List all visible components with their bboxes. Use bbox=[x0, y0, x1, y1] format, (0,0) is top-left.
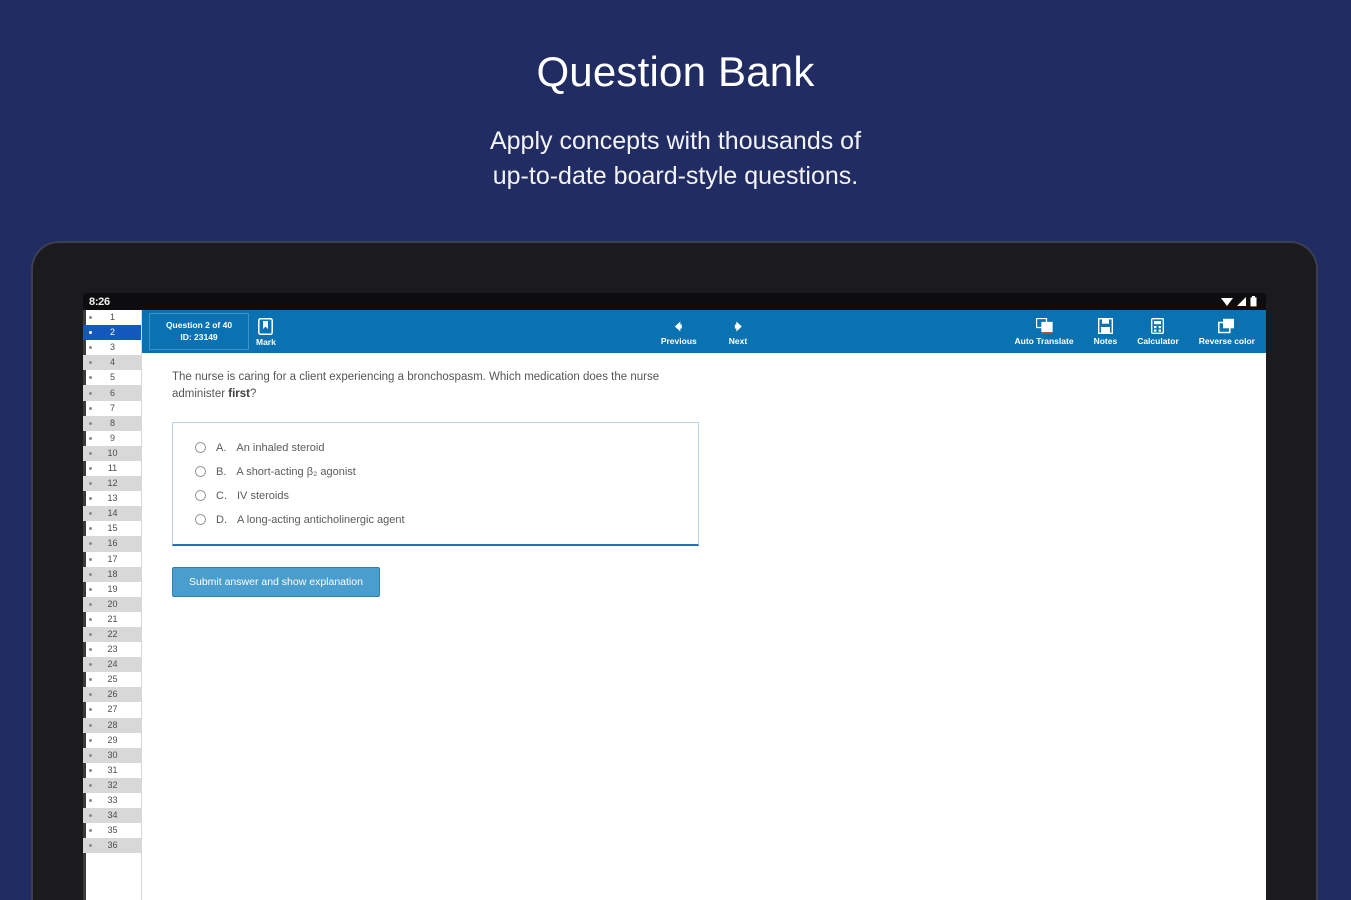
question-number-label: 14 bbox=[92, 509, 141, 518]
question-number-label: 2 bbox=[92, 328, 141, 337]
question-counter-label: Question 2 of 40 bbox=[166, 320, 232, 331]
notes-label: Notes bbox=[1094, 336, 1118, 346]
auto-translate-icon bbox=[1036, 318, 1053, 334]
question-list-item[interactable]: 33 bbox=[83, 793, 141, 808]
question-list-item[interactable]: 25 bbox=[83, 672, 141, 687]
question-number-label: 35 bbox=[92, 826, 141, 835]
toolbar-tools: Auto Translate Notes bbox=[1008, 310, 1266, 353]
question-list-item[interactable]: 15 bbox=[83, 521, 141, 536]
question-list-sidebar[interactable]: 1234567891011121314151617181920212223242… bbox=[83, 310, 142, 900]
signal-icon bbox=[1236, 296, 1247, 307]
answer-option[interactable]: D.A long-acting anticholinergic agent bbox=[173, 508, 698, 532]
question-list-item[interactable]: 3 bbox=[83, 340, 141, 355]
question-list-item[interactable]: 14 bbox=[83, 506, 141, 521]
answer-option[interactable]: B.A short-acting β₂ agonist bbox=[173, 460, 698, 484]
question-number-label: 17 bbox=[92, 555, 141, 564]
question-list[interactable]: 1234567891011121314151617181920212223242… bbox=[83, 310, 141, 853]
question-number-label: 13 bbox=[92, 494, 141, 503]
question-list-item[interactable]: 26 bbox=[83, 687, 141, 702]
question-list-item[interactable]: 32 bbox=[83, 778, 141, 793]
auto-translate-button[interactable]: Auto Translate bbox=[1008, 310, 1081, 353]
question-number-label: 10 bbox=[92, 449, 141, 458]
question-number-label: 6 bbox=[92, 389, 141, 398]
question-list-item[interactable]: 7 bbox=[83, 401, 141, 416]
question-stem: The nurse is caring for a client experie… bbox=[172, 369, 672, 404]
question-list-item[interactable]: 17 bbox=[83, 552, 141, 567]
question-number-label: 9 bbox=[92, 434, 141, 443]
battery-icon bbox=[1250, 296, 1257, 307]
tablet-device-frame: 8:26 12345678910111213141516171819202122… bbox=[33, 243, 1316, 900]
question-list-item[interactable]: 20 bbox=[83, 597, 141, 612]
calculator-icon bbox=[1151, 318, 1164, 334]
question-list-item[interactable]: 16 bbox=[83, 536, 141, 551]
submit-answer-button[interactable]: Submit answer and show explanation bbox=[172, 567, 380, 597]
answer-option-text: An inhaled steroid bbox=[236, 442, 324, 454]
previous-label: Previous bbox=[661, 336, 697, 346]
question-number-label: 20 bbox=[92, 600, 141, 609]
question-number-label: 3 bbox=[92, 343, 141, 352]
arrow-left-icon bbox=[671, 319, 686, 334]
question-number-label: 16 bbox=[92, 539, 141, 548]
question-number-label: 7 bbox=[92, 404, 141, 413]
reverse-color-label: Reverse color bbox=[1199, 336, 1255, 346]
question-number-label: 18 bbox=[92, 570, 141, 579]
answer-option-letter: A. bbox=[216, 442, 226, 454]
question-toolbar: Question 2 of 40 ID: 23149 Mark bbox=[142, 310, 1266, 353]
radio-button-icon[interactable] bbox=[195, 466, 206, 477]
answer-option-text: A long-acting anticholinergic agent bbox=[237, 514, 405, 526]
question-list-item[interactable]: 8 bbox=[83, 416, 141, 431]
qbank-app: 1234567891011121314151617181920212223242… bbox=[83, 310, 1266, 900]
calculator-button[interactable]: Calculator bbox=[1130, 310, 1186, 353]
question-number-label: 23 bbox=[92, 645, 141, 654]
question-id-label: ID: 23149 bbox=[180, 332, 217, 343]
main-pane: Question 2 of 40 ID: 23149 Mark bbox=[142, 310, 1266, 900]
page-subtitle-line2: up-to-date board-style questions. bbox=[0, 159, 1351, 194]
question-list-item[interactable]: 13 bbox=[83, 491, 141, 506]
question-list-item[interactable]: 6 bbox=[83, 385, 141, 400]
question-number-label: 15 bbox=[92, 524, 141, 533]
notes-button[interactable]: Notes bbox=[1087, 310, 1125, 353]
question-number-label: 21 bbox=[92, 615, 141, 624]
answer-option-letter: C. bbox=[216, 490, 227, 502]
page-subtitle-line1: Apply concepts with thousands of bbox=[0, 124, 1351, 159]
answer-option-letter: D. bbox=[216, 514, 227, 526]
page-subtitle: Apply concepts with thousands of up-to-d… bbox=[0, 124, 1351, 193]
question-list-item[interactable]: 23 bbox=[83, 642, 141, 657]
question-list-item[interactable]: 12 bbox=[83, 476, 141, 491]
promo-screenshot: Question Bank Apply concepts with thousa… bbox=[0, 0, 1351, 900]
question-number-label: 25 bbox=[92, 675, 141, 684]
question-number-label: 31 bbox=[92, 766, 141, 775]
question-number-label: 27 bbox=[92, 705, 141, 714]
question-list-item[interactable]: 29 bbox=[83, 733, 141, 748]
question-stem-after: ? bbox=[250, 388, 256, 400]
android-status-bar: 8:26 bbox=[83, 293, 1266, 310]
question-list-item[interactable]: 2 bbox=[83, 325, 141, 340]
reverse-color-button[interactable]: Reverse color bbox=[1192, 310, 1262, 353]
wifi-icon bbox=[1221, 296, 1233, 307]
mark-label: Mark bbox=[256, 337, 276, 347]
mark-button[interactable]: Mark bbox=[249, 310, 283, 353]
question-list-item[interactable]: 28 bbox=[83, 718, 141, 733]
auto-translate-label: Auto Translate bbox=[1015, 336, 1074, 346]
question-navigation: Previous Next bbox=[654, 310, 754, 353]
question-list-item[interactable]: 5 bbox=[83, 370, 141, 385]
answer-option-letter: B. bbox=[216, 466, 226, 478]
question-list-item[interactable]: 9 bbox=[83, 431, 141, 446]
question-list-item[interactable]: 31 bbox=[83, 763, 141, 778]
question-number-label: 24 bbox=[92, 660, 141, 669]
question-number-label: 26 bbox=[92, 690, 141, 699]
question-number-label: 22 bbox=[92, 630, 141, 639]
question-number-label: 5 bbox=[92, 373, 141, 382]
answer-option[interactable]: A.An inhaled steroid bbox=[173, 436, 698, 460]
question-counter-box: Question 2 of 40 ID: 23149 bbox=[149, 313, 249, 350]
answer-option[interactable]: C.IV steroids bbox=[173, 484, 698, 508]
question-number-label: 4 bbox=[92, 358, 141, 367]
question-number-label: 12 bbox=[92, 479, 141, 488]
status-bar-icons bbox=[1221, 296, 1257, 307]
question-number-label: 29 bbox=[92, 736, 141, 745]
previous-button[interactable]: Previous bbox=[654, 310, 704, 353]
question-number-label: 30 bbox=[92, 751, 141, 760]
question-number-label: 32 bbox=[92, 781, 141, 790]
question-list-item[interactable]: 30 bbox=[83, 748, 141, 763]
reverse-color-icon bbox=[1218, 318, 1235, 334]
question-stem-emphasis: first bbox=[228, 388, 250, 400]
radio-button-icon[interactable] bbox=[195, 514, 206, 525]
question-list-item[interactable]: 1 bbox=[83, 310, 141, 325]
question-list-item[interactable]: 10 bbox=[83, 446, 141, 461]
status-bar-clock: 8:26 bbox=[89, 296, 110, 308]
question-number-label: 8 bbox=[92, 419, 141, 428]
next-button[interactable]: Next bbox=[722, 310, 754, 353]
question-list-item[interactable]: 24 bbox=[83, 657, 141, 672]
question-number-label: 1 bbox=[92, 313, 141, 322]
question-list-item[interactable]: 36 bbox=[83, 838, 141, 853]
question-list-item[interactable]: 11 bbox=[83, 461, 141, 476]
radio-button-icon[interactable] bbox=[195, 442, 206, 453]
notes-icon bbox=[1098, 318, 1113, 334]
bookmark-icon bbox=[258, 318, 273, 335]
answer-option-text: IV steroids bbox=[237, 490, 289, 502]
question-list-item[interactable]: 18 bbox=[83, 567, 141, 582]
radio-button-icon[interactable] bbox=[195, 490, 206, 501]
question-number-label: 28 bbox=[92, 721, 141, 730]
question-number-label: 36 bbox=[92, 841, 141, 850]
answer-option-text: A short-acting β₂ agonist bbox=[236, 466, 355, 478]
question-list-item[interactable]: 21 bbox=[83, 612, 141, 627]
answer-options-box[interactable]: A.An inhaled steroidB.A short-acting β₂ … bbox=[172, 422, 699, 546]
calculator-label: Calculator bbox=[1137, 336, 1179, 346]
question-number-label: 33 bbox=[92, 796, 141, 805]
question-list-item[interactable]: 19 bbox=[83, 582, 141, 597]
question-content: The nurse is caring for a client experie… bbox=[142, 353, 1266, 900]
question-number-label: 11 bbox=[92, 464, 141, 473]
question-number-label: 34 bbox=[92, 811, 141, 820]
next-label: Next bbox=[729, 336, 747, 346]
question-list-item[interactable]: 34 bbox=[83, 808, 141, 823]
page-title: Question Bank bbox=[0, 48, 1351, 96]
question-list-item[interactable]: 35 bbox=[83, 823, 141, 838]
arrow-right-icon bbox=[730, 319, 745, 334]
question-list-item[interactable]: 27 bbox=[83, 702, 141, 717]
question-number-label: 19 bbox=[92, 585, 141, 594]
question-list-item[interactable]: 22 bbox=[83, 627, 141, 642]
question-list-item[interactable]: 4 bbox=[83, 355, 141, 370]
tablet-screen: 8:26 12345678910111213141516171819202122… bbox=[83, 293, 1266, 900]
